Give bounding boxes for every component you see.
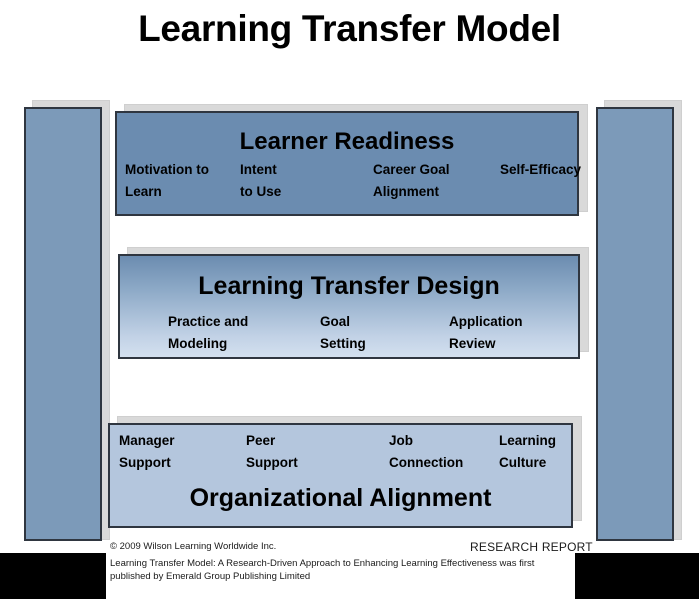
component-line-1: Peer: [246, 430, 298, 452]
footer-report-label: RESEARCH REPORT: [470, 540, 593, 554]
organizational-alignment-panel: Manager Support Peer Support Job Connect…: [108, 423, 573, 528]
component-line-1: Application: [449, 311, 523, 333]
component-line-2: Culture: [499, 452, 556, 474]
component-intent-to-use: Intent to Use: [240, 159, 281, 203]
component-line-1: Career Goal: [373, 159, 450, 181]
footer-bar-right: [575, 553, 699, 599]
component-practice-and-modeling: Practice and Modeling: [168, 311, 248, 355]
learning-transfer-design-heading: Learning Transfer Design: [120, 272, 578, 301]
component-self-efficacy: Self-Efficacy: [500, 159, 581, 181]
learner-readiness-panel: Learner Readiness Motivation to Learn In…: [115, 111, 579, 216]
component-line-1: Manager: [119, 430, 175, 452]
page-title: Learning Transfer Model: [0, 8, 699, 50]
component-line-2: Modeling: [168, 333, 248, 355]
footer-bar-left: [0, 553, 106, 599]
component-line-2: Learn: [125, 181, 209, 203]
component-line-1: Intent: [240, 159, 281, 181]
component-line-2: Setting: [320, 333, 366, 355]
organizational-alignment-heading: Organizational Alignment: [110, 484, 571, 513]
component-manager-support: Manager Support: [119, 430, 175, 474]
component-motivation-to-learn: Motivation to Learn: [125, 159, 209, 203]
component-line-2: Support: [246, 452, 298, 474]
component-learning-culture: Learning Culture: [499, 430, 556, 474]
component-application-review: Application Review: [449, 311, 523, 355]
component-line-2: Alignment: [373, 181, 450, 203]
component-line-2: Review: [449, 333, 523, 355]
component-job-connection: Job Connection: [389, 430, 463, 474]
footer-citation: Learning Transfer Model: A Research-Driv…: [110, 557, 576, 583]
component-line-1: Practice and: [168, 311, 248, 333]
left-pillar: [24, 107, 102, 541]
component-goal-setting: Goal Setting: [320, 311, 366, 355]
component-peer-support: Peer Support: [246, 430, 298, 474]
component-career-goal-alignment: Career Goal Alignment: [373, 159, 450, 203]
component-line-2: Connection: [389, 452, 463, 474]
learner-readiness-heading: Learner Readiness: [117, 128, 577, 156]
component-line-1: Motivation to: [125, 159, 209, 181]
component-line-1: Self-Efficacy: [500, 159, 581, 181]
footer-copyright: © 2009 Wilson Learning Worldwide Inc.: [110, 541, 276, 552]
component-line-1: Goal: [320, 311, 366, 333]
component-line-1: Learning: [499, 430, 556, 452]
right-pillar: [596, 107, 674, 541]
component-line-2: Support: [119, 452, 175, 474]
component-line-2: to Use: [240, 181, 281, 203]
learning-transfer-design-panel: Learning Transfer Design Practice and Mo…: [118, 254, 580, 359]
component-line-1: Job: [389, 430, 463, 452]
